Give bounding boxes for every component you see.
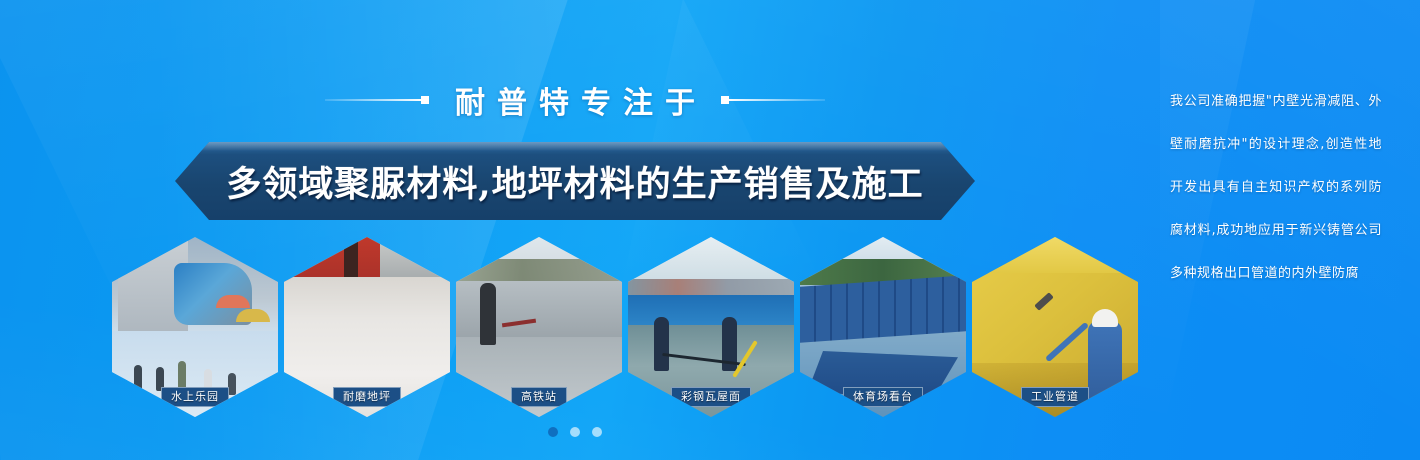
description-column: 我公司准确把握"内壁光滑减阻、外壁耐磨抗冲"的设计理念,创造性地开发出具有自主知…	[1170, 80, 1382, 295]
description-text: 我公司准确把握"内壁光滑减阻、外壁耐磨抗冲"的设计理念,创造性地开发出具有自主知…	[1170, 80, 1382, 295]
decorative-line-right-icon	[729, 99, 825, 101]
tagline-text: 多领域聚脲材料,地坪材料的生产销售及施工	[226, 156, 923, 207]
gallery-item-wear-resistant-flooring[interactable]: 耐磨地坪	[284, 237, 450, 417]
gallery-caption: 工业管道	[1021, 387, 1089, 407]
promo-banner: 耐普特专注于 多领域聚脲材料,地坪材料的生产销售及施工 水上乐园	[0, 0, 1420, 460]
gallery-caption: 高铁站	[511, 387, 567, 407]
gallery-item-high-speed-rail-station[interactable]: 高铁站	[456, 237, 622, 417]
tagline-wrap: 多领域聚脲材料,地坪材料的生产销售及施工	[0, 142, 1150, 220]
headline-row: 耐普特专注于	[0, 78, 1150, 122]
gallery-item-water-park[interactable]: 水上乐园	[112, 237, 278, 417]
gallery-item-stadium-grandstand[interactable]: 体育场看台	[800, 237, 966, 417]
gallery-caption: 耐磨地坪	[333, 387, 401, 407]
decorative-line-left-icon	[325, 99, 421, 101]
carousel-dot-1[interactable]	[548, 427, 558, 437]
tagline-plate: 多领域聚脲材料,地坪材料的生产销售及施工	[175, 142, 975, 220]
carousel-dot-3[interactable]	[592, 427, 602, 437]
hexagon-gallery: 水上乐园 耐磨地坪 高铁站	[112, 237, 1152, 417]
carousel-dot-2[interactable]	[570, 427, 580, 437]
gallery-item-industrial-pipeline[interactable]: 工业管道	[972, 237, 1138, 417]
gallery-caption: 体育场看台	[843, 387, 923, 407]
carousel-dots	[0, 427, 1150, 437]
gallery-caption: 水上乐园	[161, 387, 229, 407]
headline-text: 耐普特专注于	[443, 78, 707, 122]
gallery-caption: 彩钢瓦屋面	[671, 387, 751, 407]
gallery-item-color-steel-tile-roof[interactable]: 彩钢瓦屋面	[628, 237, 794, 417]
